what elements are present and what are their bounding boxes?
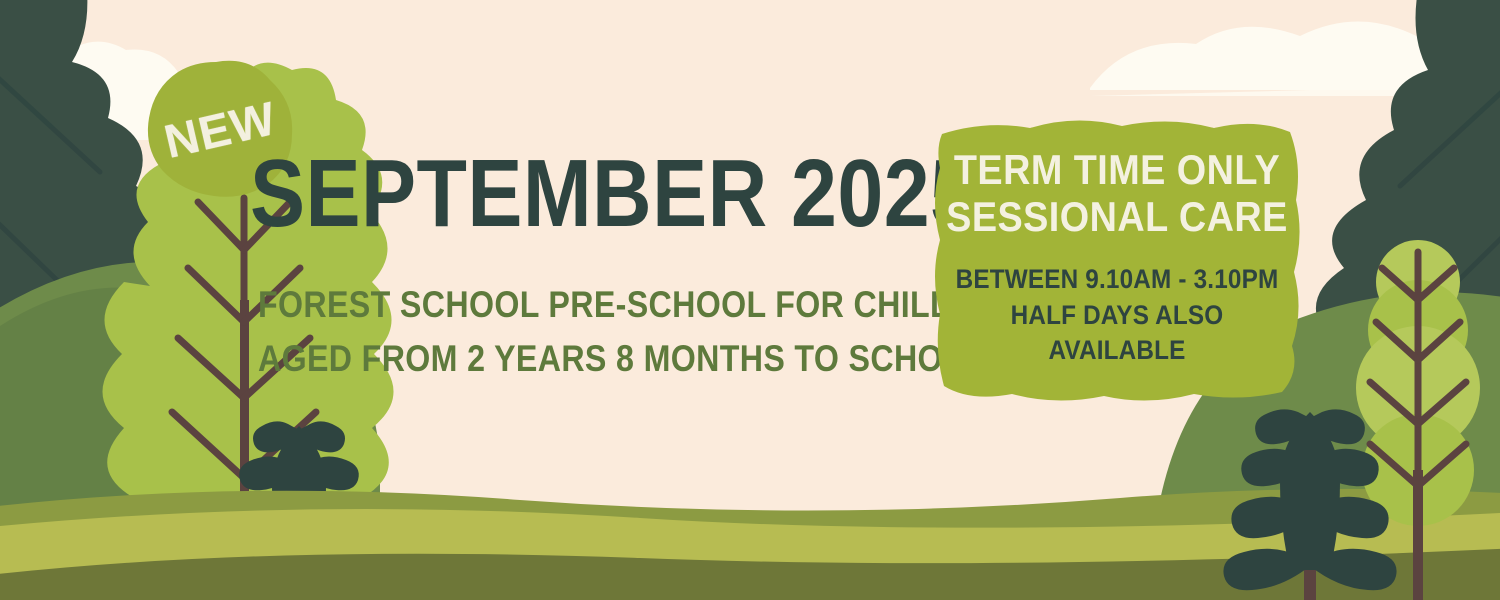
info-card-title-line-1: TERM TIME ONLY (945, 146, 1289, 193)
headline-block: SEPTEMBER 2025 FOREST SCHOOL PRE-SCHOOL … (250, 148, 910, 385)
info-card-detail-line-2: HALF DAYS ALSO AVAILABLE (945, 298, 1289, 369)
info-card-detail-line-1: BETWEEN 9.10AM - 3.10PM (945, 262, 1289, 298)
info-card-content: TERM TIME ONLY SESSIONAL CARE BETWEEN 9.… (926, 146, 1308, 369)
circle-tree-trunk (1413, 470, 1423, 600)
subtitle-line-1: FOREST SCHOOL PRE-SCHOOL FOR CHILDREN (258, 278, 825, 332)
subtitle-line-2: AGED FROM 2 YEARS 8 MONTHS TO SCHOOL (258, 332, 825, 386)
page-title: SEPTEMBER 2025 (250, 148, 818, 240)
forest-school-banner: NEW SEPTEMBER 2025 FOREST SCHOOL PRE-SCH… (0, 0, 1500, 600)
info-card: TERM TIME ONLY SESSIONAL CARE BETWEEN 9.… (926, 106, 1308, 406)
info-card-details: BETWEEN 9.10AM - 3.10PM HALF DAYS ALSO A… (945, 262, 1289, 369)
subtitle: FOREST SCHOOL PRE-SCHOOL FOR CHILDREN AG… (258, 278, 825, 385)
info-card-title: TERM TIME ONLY SESSIONAL CARE (945, 146, 1289, 240)
info-card-title-line-2: SESSIONAL CARE (945, 193, 1289, 240)
